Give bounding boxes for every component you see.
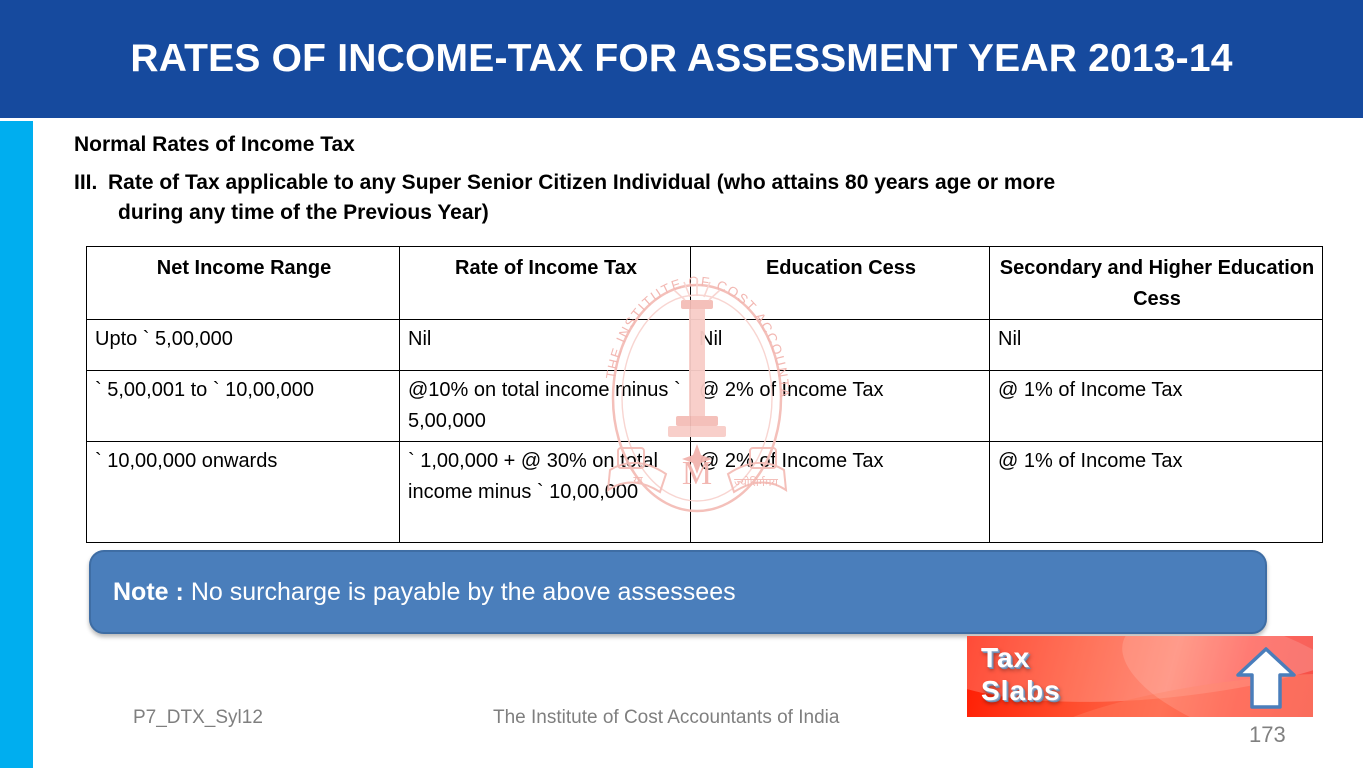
cell-education-cess: @ 2% of Income Tax	[691, 371, 990, 442]
column-header-rate-of-income-tax: Rate of Income Tax	[400, 247, 691, 320]
slide-header-band: RATES OF INCOME-TAX FOR ASSESSMENT YEAR …	[0, 0, 1363, 118]
clause-line-1: Rate of Tax applicable to any Super Seni…	[108, 171, 1055, 194]
cell-rate-of-income-tax: Nil	[400, 320, 691, 371]
left-accent-bar	[0, 121, 33, 768]
cell-rate-of-income-tax: ` 1,00,000 + @ 30% on total income minus…	[400, 442, 691, 543]
footer-course-code: P7_DTX_Syl12	[133, 707, 263, 729]
table-row: ` 10,00,000 onwards ` 1,00,000 + @ 30% o…	[87, 442, 1323, 543]
note-text: No surcharge is payable by the above ass…	[191, 578, 736, 607]
cell-net-income-range: ` 5,00,001 to ` 10,00,000	[87, 371, 400, 442]
table-row: ` 5,00,001 to ` 10,00,000 @10% on total …	[87, 371, 1323, 442]
cell-secondary-higher-education-cess: @ 1% of Income Tax	[990, 442, 1323, 543]
section-subtitle: Normal Rates of Income Tax	[74, 131, 355, 159]
column-header-education-cess: Education Cess	[691, 247, 990, 320]
income-tax-rates-table: Net Income Range Rate of Income Tax Educ…	[86, 246, 1323, 543]
footer-institute-name: The Institute of Cost Accountants of Ind…	[493, 707, 839, 729]
note-label: Note :	[113, 578, 184, 607]
cell-secondary-higher-education-cess: @ 1% of Income Tax	[990, 371, 1323, 442]
tax-slabs-image: Tax Slabs	[967, 636, 1313, 717]
cell-net-income-range: ` 10,00,000 onwards	[87, 442, 400, 543]
clause-paragraph: III.Rate of Tax applicable to any Super …	[74, 168, 1314, 228]
cell-net-income-range: Upto ` 5,00,000	[87, 320, 400, 371]
up-arrow-icon	[1235, 646, 1297, 710]
table-header-row: Net Income Range Rate of Income Tax Educ…	[87, 247, 1323, 320]
cell-rate-of-income-tax: @10% on total income minus ` 5,00,000	[400, 371, 691, 442]
cell-secondary-higher-education-cess: Nil	[990, 320, 1323, 371]
cell-education-cess: Nil	[691, 320, 990, 371]
tax-slabs-line-2: Slabs	[981, 674, 1061, 707]
note-banner: Note : No surcharge is payable by the ab…	[89, 550, 1267, 634]
clause-marker: III.	[74, 168, 108, 198]
table-row: Upto ` 5,00,000 Nil Nil Nil	[87, 320, 1323, 371]
page-title: RATES OF INCOME-TAX FOR ASSESSMENT YEAR …	[0, 36, 1363, 82]
cell-education-cess: @ 2% of Income Tax	[691, 442, 990, 543]
column-header-secondary-higher-education-cess: Secondary and Higher Education Cess	[990, 247, 1323, 320]
tax-slabs-line-1: Tax	[981, 641, 1061, 674]
column-header-net-income-range: Net Income Range	[87, 247, 400, 320]
clause-line-2: during any time of the Previous Year)	[74, 198, 1314, 228]
page-number: 173	[1249, 722, 1286, 748]
tax-slabs-caption: Tax Slabs	[981, 641, 1061, 707]
